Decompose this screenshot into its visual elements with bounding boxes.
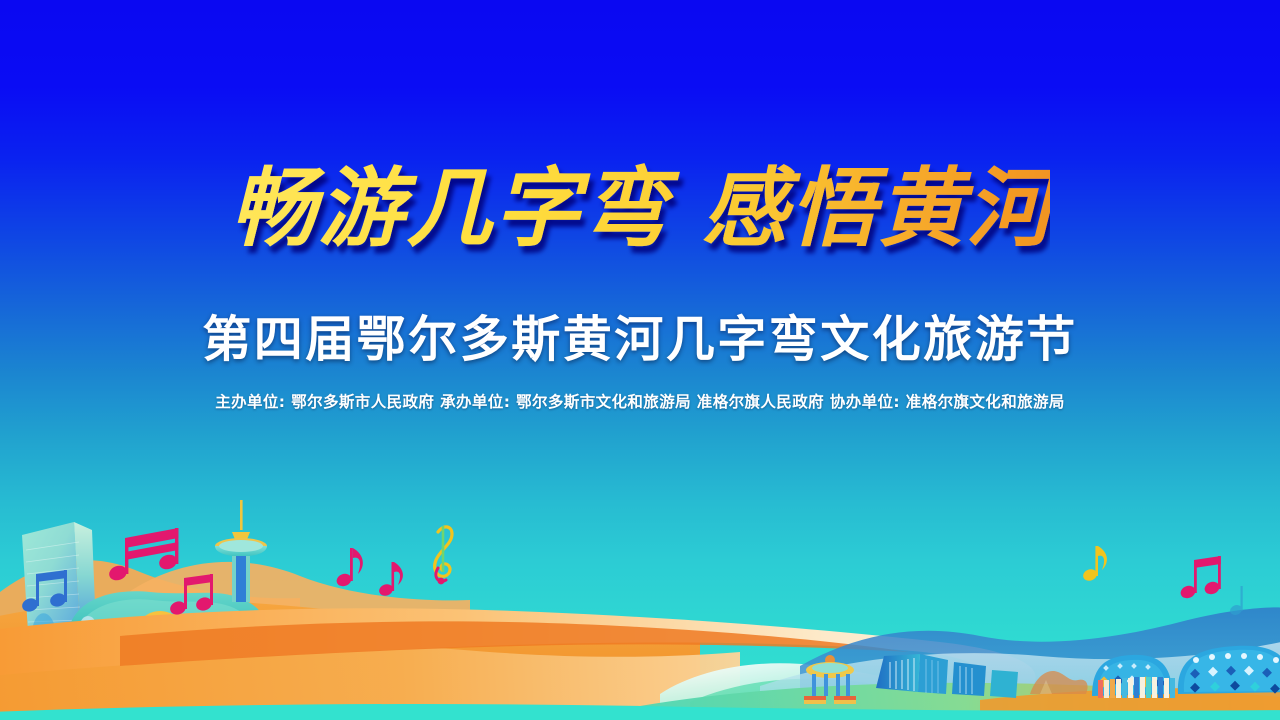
music-note-pink-right xyxy=(1179,556,1221,600)
music-note-single-2 xyxy=(378,562,403,598)
treble-clef-icon xyxy=(435,526,452,584)
coorganizer-role: 协办单位: xyxy=(830,393,900,411)
undertaker-role: 承办单位: xyxy=(440,393,510,411)
poster-canvas: 畅游几字弯 感悟黄河魂 第四届鄂尔多斯黄河几字弯文化旅游节 主办单位: 鄂尔多斯… xyxy=(0,0,1280,720)
scenery-illustration xyxy=(0,480,1280,720)
slogan-calligraphy: 畅游几字弯 感悟黄河魂 xyxy=(0,152,1280,272)
host-name: 鄂尔多斯市人民政府 xyxy=(291,393,434,411)
undertaker-name: 鄂尔多斯市文化和旅游局 准格尔旗人民政府 xyxy=(516,393,824,411)
coorganizer-name: 准格尔旗文化和旅游局 xyxy=(906,393,1065,411)
music-note-single-1 xyxy=(335,548,363,588)
page-title: 第四届鄂尔多斯黄河几字弯文化旅游节 xyxy=(0,300,1280,371)
host-role: 主办单位: xyxy=(215,393,285,411)
slogan-text: 畅游几字弯 感悟黄河魂 xyxy=(230,158,1050,259)
music-note-yellow xyxy=(1082,546,1107,583)
organizers-line: 主办单位: 鄂尔多斯市人民政府 承办单位: 鄂尔多斯市文化和旅游局 准格尔旗人民… xyxy=(0,390,1280,412)
